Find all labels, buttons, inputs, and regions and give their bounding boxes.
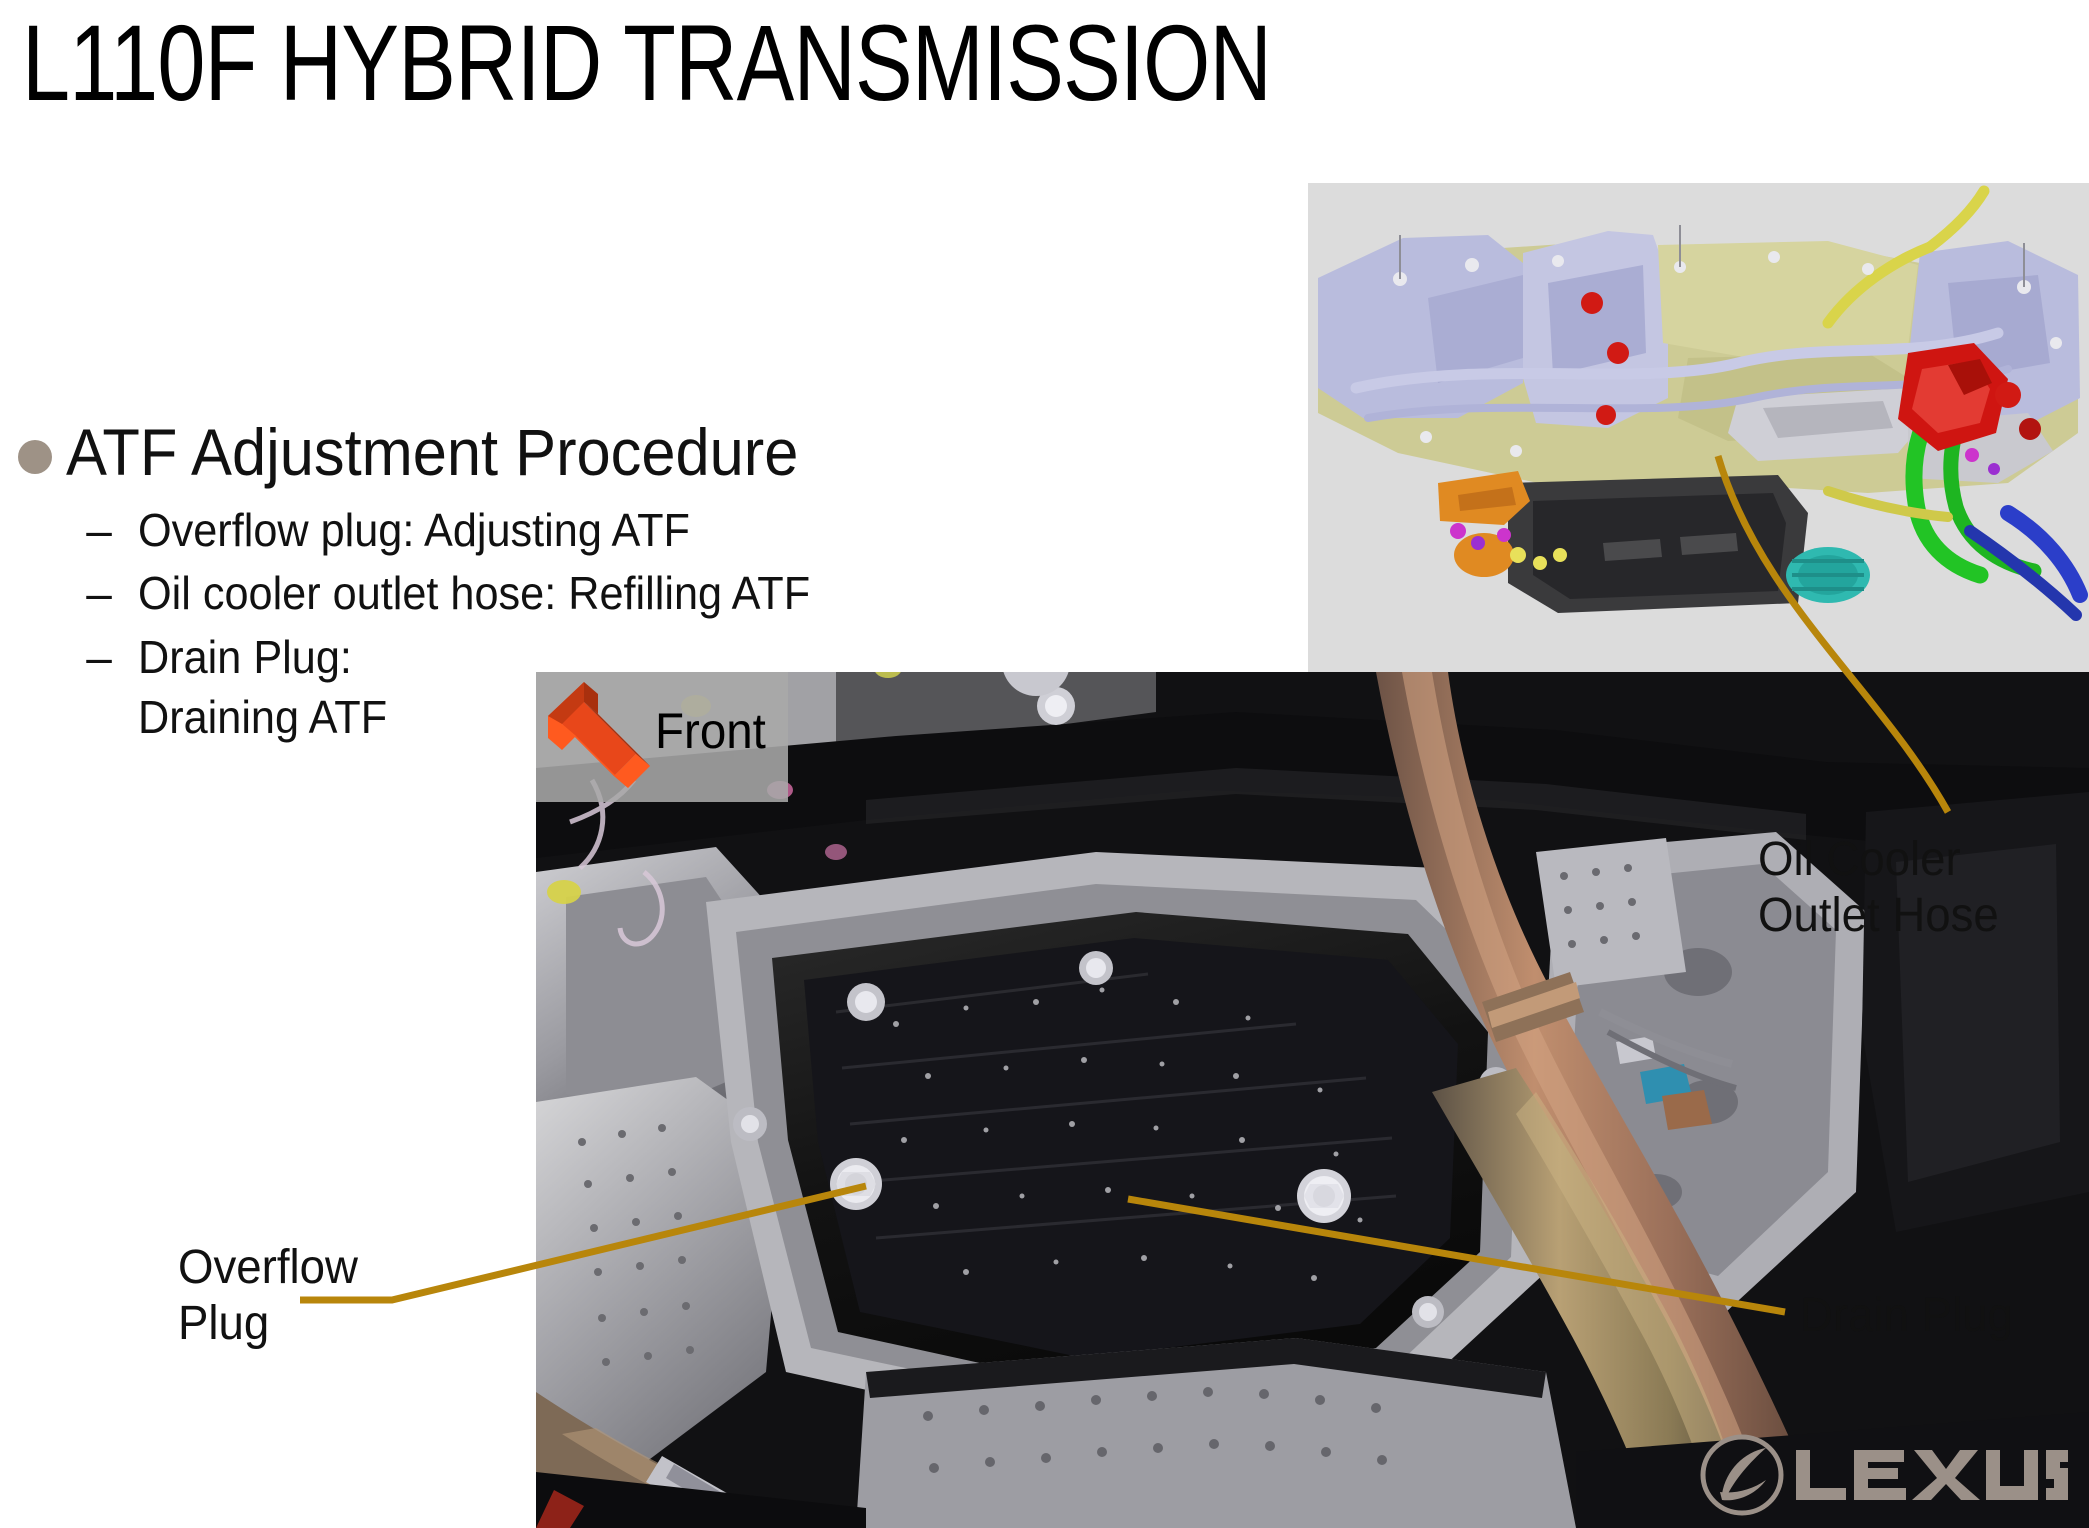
callout-oil-cooler-outlet-hose: Oil Cooler Outlet Hose	[1758, 832, 1999, 943]
lexus-logo	[1700, 1432, 2070, 1518]
dash-marker-icon: –	[84, 564, 114, 624]
bullet-level2-label-3: Drain Plug: Draining ATF	[138, 628, 387, 748]
bullet-level2-label-2: Oil cooler outlet hose: Refilling ATF	[138, 564, 810, 624]
callout-overflow-plug: Overflow Plug	[178, 1240, 358, 1351]
bullet-level2-label-1: Overflow plug: Adjusting ATF	[138, 501, 690, 561]
slide-root: L110F HYBRID TRANSMISSION	[0, 0, 2089, 1528]
bullet-marker-icon	[18, 440, 52, 474]
dash-marker-icon: –	[84, 628, 114, 688]
page-title: L110F HYBRID TRANSMISSION	[22, 8, 1271, 118]
callout-drain-plug: Drain Plug	[1800, 1288, 2013, 1344]
dash-marker-icon: –	[84, 501, 114, 561]
bullet-level2-item-3: – Drain Plug: Draining ATF	[84, 628, 1028, 748]
bullet-level2-item-1: – Overflow plug: Adjusting ATF	[84, 501, 1028, 561]
bullet-level1-label: ATF Adjustment Procedure	[66, 418, 798, 487]
bullet-list: ATF Adjustment Procedure – Overflow plug…	[18, 418, 1028, 748]
bullet-level2-item-2: – Oil cooler outlet hose: Refilling ATF	[84, 564, 1028, 624]
bullet-level1: ATF Adjustment Procedure	[18, 418, 1028, 487]
transmission-cad-diagram	[1308, 183, 2089, 675]
